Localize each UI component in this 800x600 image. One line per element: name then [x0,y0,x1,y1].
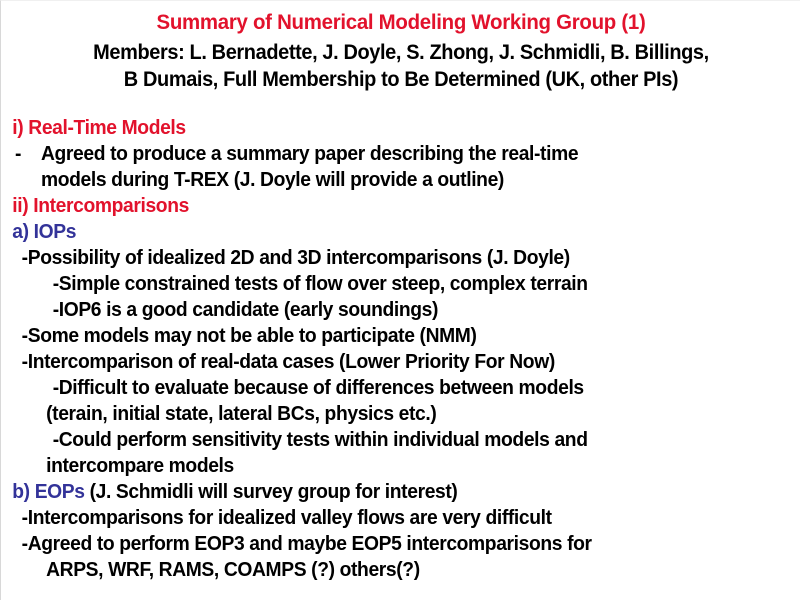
subsection-heading-b: b) EOPs [12,480,84,503]
spacer [1,93,800,115]
bullet-b-2-line-1: -Agreed to perform EOP3 and maybe EOP5 i… [1,531,753,557]
section-heading-i: i) Real-Time Models [1,115,753,141]
section-heading-ii: ii) Intercomparisons [1,193,753,219]
bullet-i-1: - Agreed to produce a summary paper desc… [1,141,800,193]
slide-content: Summary of Numerical Modeling Working Gr… [1,1,800,583]
subsection-heading-b-row: b) EOPs (J. Schmidli will survey group f… [1,479,753,505]
bullet-a-3-sub-1-line-1: -Difficult to evaluate because of differ… [1,375,753,401]
subsection-heading-b-note: (J. Schmidli will survey group for inter… [85,480,458,503]
bullet-a-3-sub-1-line-2: (terain, initial state, lateral BCs, phy… [1,401,753,427]
presentation-slide: Summary of Numerical Modeling Working Gr… [0,0,800,600]
bullet-b-1: -Intercomparisons for idealized valley f… [1,505,753,531]
bullet-dash-marker: - [15,141,39,167]
bullet-a-3-sub-2-line-1: -Could perform sensitivity tests within … [1,427,753,453]
bullet-a-1-sub-1: -Simple constrained tests of flow over s… [1,271,753,297]
members-line-1: Members: L. Bernadette, J. Doyle, S. Zho… [21,39,781,66]
subsection-heading-a: a) IOPs [1,219,753,245]
bullet-a-1: -Possibility of idealized 2D and 3D inte… [1,245,753,271]
bullet-a-3-sub-2-line-2: intercompare models [1,453,753,479]
bullet-a-3: -Intercomparison of real-data cases (Low… [1,349,753,375]
bullet-b-2-line-2: ARPS, WRF, RAMS, COAMPS (?) others(?) [1,557,753,583]
bullet-i-1-line-2: models during T-REX (J. Doyle will provi… [41,167,578,193]
bullet-i-1-line-1: Agreed to produce a summary paper descri… [41,141,578,167]
slide-title: Summary of Numerical Modeling Working Gr… [21,9,781,35]
bullet-a-1-sub-2: -IOP6 is a good candidate (early soundin… [1,297,753,323]
members-line-2: B Dumais, Full Membership to Be Determin… [21,66,781,93]
bullet-a-2: -Some models may not be able to particip… [1,323,753,349]
bullet-i-1-text: Agreed to produce a summary paper descri… [41,141,612,193]
